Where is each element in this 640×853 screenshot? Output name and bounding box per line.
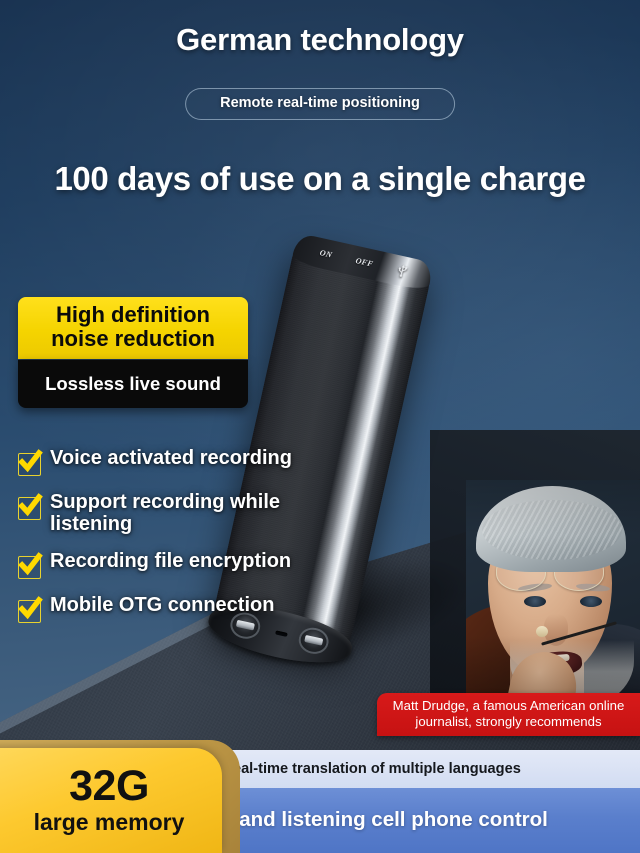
endorsement-banner: Matt Drudge, a famous American online jo… <box>377 693 640 736</box>
lossless-sound-label: Lossless live sound <box>45 373 221 395</box>
memory-capacity-card: 32G large memory <box>0 748 222 853</box>
check-icon <box>18 497 41 520</box>
list-item: Voice activated recording <box>18 448 348 476</box>
feature-pill-badge: Remote real-time positioning <box>185 88 455 120</box>
feature-list: Voice activated recording Support record… <box>18 448 348 639</box>
list-item: Support recording while listening <box>18 492 348 535</box>
lossless-sound-badge: Lossless live sound <box>18 360 248 408</box>
page-title: German technology <box>0 22 640 58</box>
feature-label: Voice activated recording <box>50 448 292 470</box>
feature-label: Support recording while listening <box>50 492 348 535</box>
photo-shading <box>466 480 640 702</box>
noise-reduction-line1: High definition <box>26 303 240 327</box>
device-on-label: ON <box>319 248 333 259</box>
endorser-photo <box>466 480 640 702</box>
noise-reduction-badge: High definition noise reduction <box>18 297 248 359</box>
device-off-label: OFF <box>355 256 375 269</box>
feature-label: Recording file encryption <box>50 551 291 573</box>
usb-icon <box>395 263 409 278</box>
list-item: Mobile OTG connection <box>18 595 348 623</box>
check-icon <box>18 556 41 579</box>
check-icon <box>18 453 41 476</box>
noise-reduction-line2: noise reduction <box>26 327 240 351</box>
list-item: Recording file encryption <box>18 551 348 579</box>
memory-size: 32G <box>69 765 149 808</box>
product-poster: ON OFF <box>0 0 640 853</box>
check-icon <box>18 600 41 623</box>
feature-label: Mobile OTG connection <box>50 595 274 617</box>
battery-subheadline: 100 days of use on a single charge <box>0 160 640 198</box>
memory-label: large memory <box>34 810 185 835</box>
